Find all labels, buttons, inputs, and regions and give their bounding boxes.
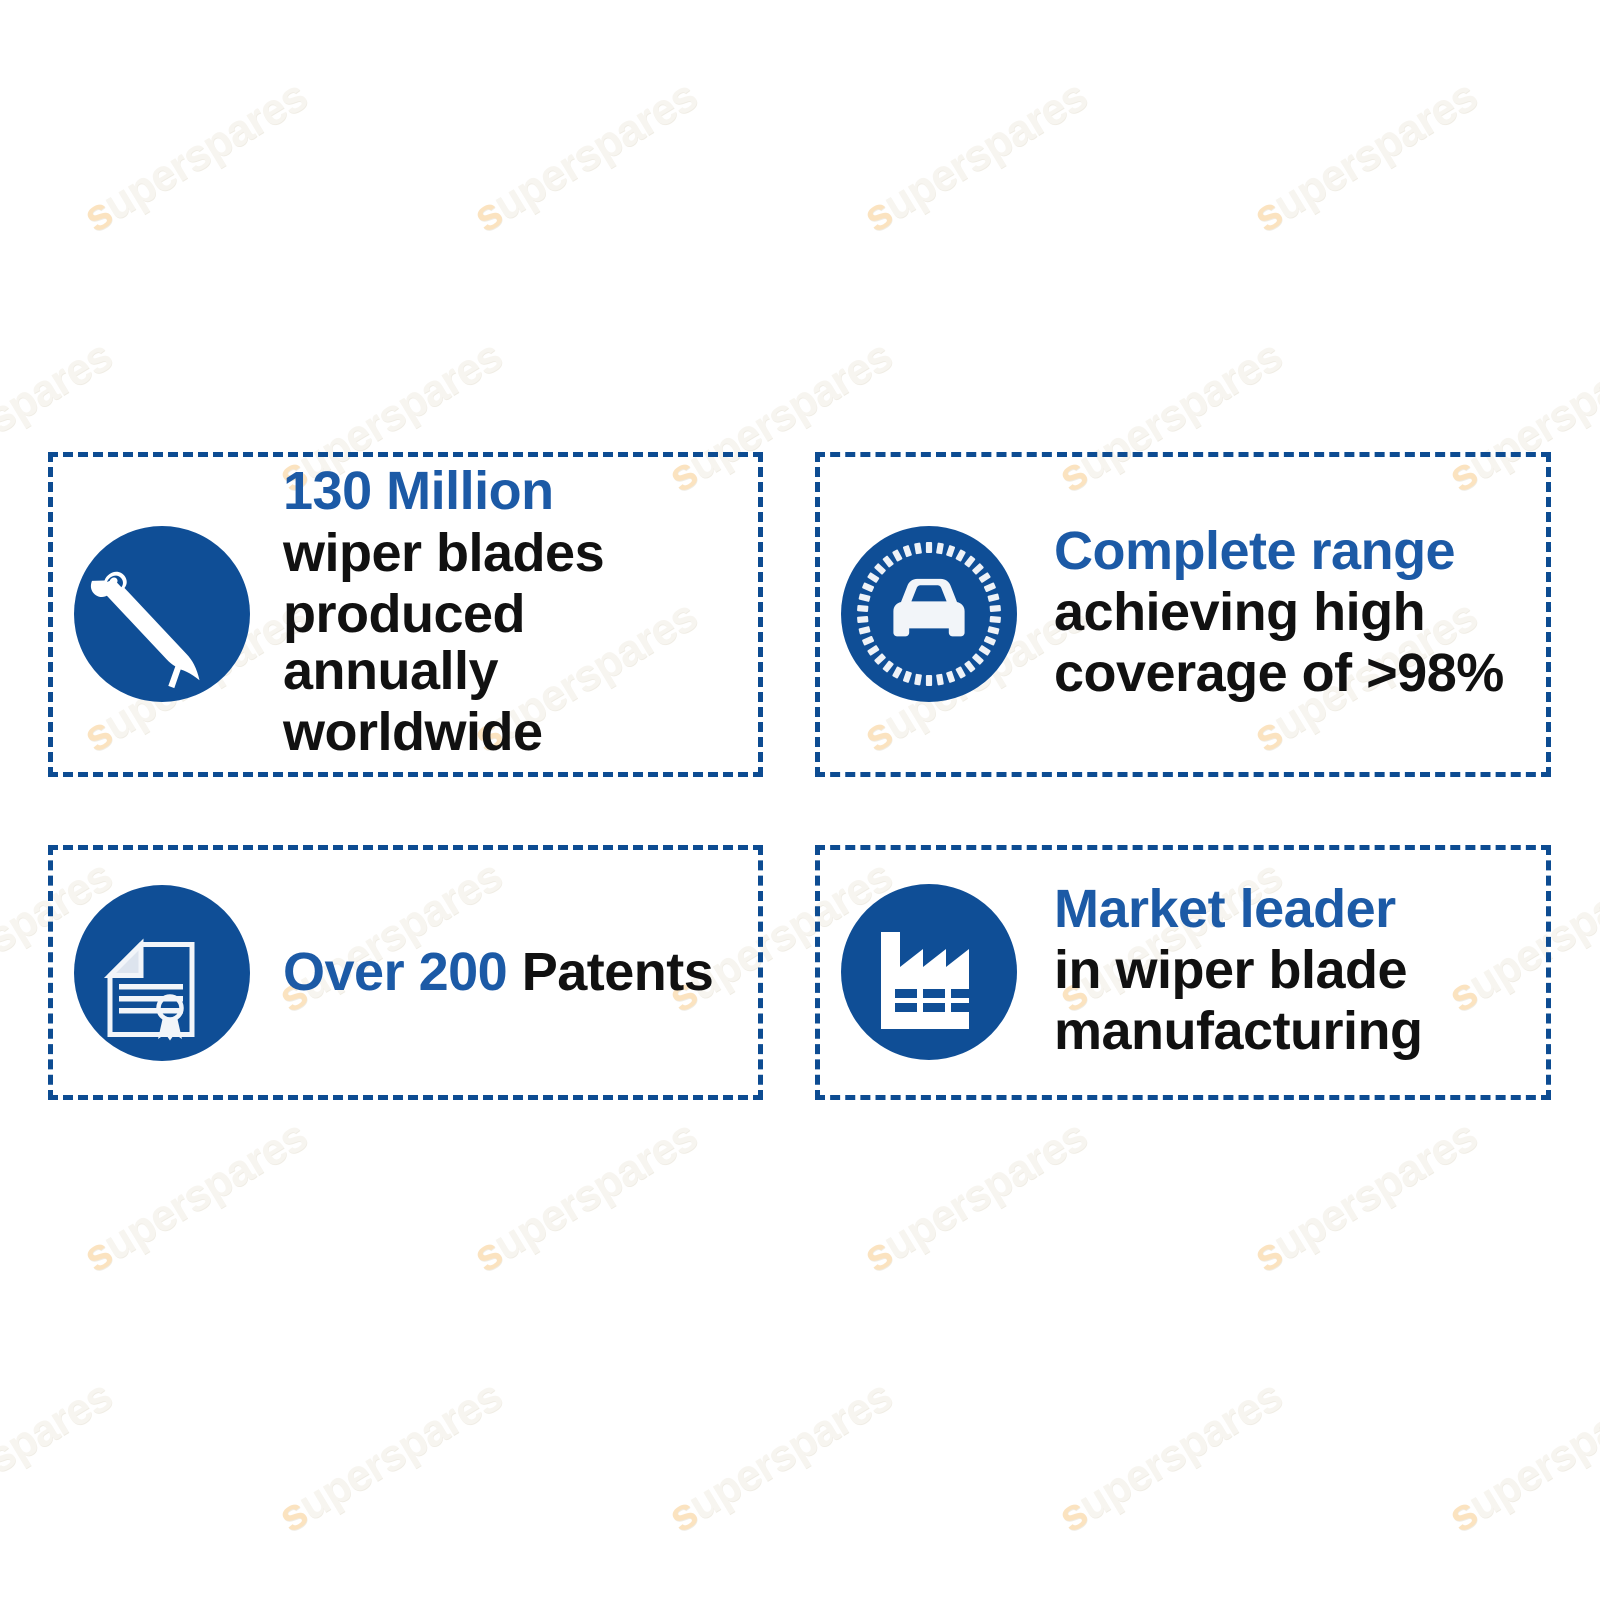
watermark-text: superspares [75,71,316,243]
watermark-logo-letter: s [855,1228,900,1282]
watermark-logo-letter: s [1440,1488,1485,1542]
watermark-word: uperspares [95,1111,315,1270]
watermark-word: uperspares [680,1371,900,1530]
card-body-line-2: coverage of >98% [1054,645,1532,702]
card-inline-text: Over 200 Patents [283,943,744,1002]
card-headline: Complete range [1054,523,1532,580]
card-body-line-1: wiper blades [283,525,744,582]
watermark-text: superspares [1050,1371,1291,1543]
infographic-page: supersparessupersparessupersparessupersp… [0,0,1600,1600]
watermark-logo-letter: s [270,1488,315,1542]
watermark-logo-letter: s [855,188,900,242]
stat-card-market-leader: Market leader in wiper blade manufacturi… [815,845,1551,1100]
card-text: Complete range achieving high coverage o… [1024,523,1532,707]
card-headline: Market leader [1054,881,1532,938]
card-trailing-text: Patents [507,942,713,1002]
card-text: Over 200 Patents [257,943,744,1002]
watermark-text: superspares [0,1371,121,1543]
card-body-line-2: produced annually [283,586,744,700]
card-body-line-1: in wiper blade [1054,942,1532,999]
watermark-logo-letter: s [1245,1228,1290,1282]
watermark-word: uperspares [1265,1111,1485,1270]
watermark-word: uperspares [95,71,315,230]
watermark-logo-letter: s [75,1228,120,1282]
card-text: Market leader in wiper blade manufacturi… [1024,881,1532,1065]
card-body-line-1: achieving high [1054,584,1532,641]
car-in-ring-icon [834,525,1024,703]
card-headline: Over 200 [283,942,507,1002]
watermark-text: superspares [465,1111,706,1283]
card-inner: 130 Million wiper blades produced annual… [53,463,758,765]
card-text: 130 Million wiper blades produced annual… [257,463,744,765]
watermark-text: superspares [75,1111,316,1283]
watermark-logo-letter: s [465,1228,510,1282]
watermark-text: superspares [270,1371,511,1543]
watermark-text: superspares [1440,1371,1600,1543]
watermark-logo-letter: s [75,188,120,242]
watermark-word: uperspares [875,1111,1095,1270]
factory-icon [834,883,1024,1061]
watermark-logo-letter: s [1245,188,1290,242]
watermark-word: uperspares [290,1371,510,1530]
card-inner: Over 200 Patents [53,884,758,1062]
watermark-word: uperspares [485,1111,705,1270]
stat-card-patents: Over 200 Patents [48,845,763,1100]
watermark-layer: supersparessupersparessupersparessupersp… [0,0,1600,1600]
watermark-logo-letter: s [1050,1488,1095,1542]
watermark-word: uperspares [1460,1371,1600,1530]
card-inner: Market leader in wiper blade manufacturi… [820,881,1546,1065]
watermark-text: superspares [660,1371,901,1543]
watermark-logo-letter: s [465,188,510,242]
wiper-blade-icon [67,525,257,703]
watermark-text: superspares [855,1111,1096,1283]
watermark-word: uperspares [1070,1371,1290,1530]
card-body-line-2: manufacturing [1054,1003,1532,1060]
watermark-text: superspares [855,71,1096,243]
stat-card-wiper-blades-produced: 130 Million wiper blades produced annual… [48,452,763,777]
watermark-text: superspares [465,71,706,243]
watermark-word: uperspares [875,71,1095,230]
stat-card-complete-range-coverage: Complete range achieving high coverage o… [815,452,1551,777]
watermark-word: uperspares [485,71,705,230]
card-body-line-3: worldwide [283,704,744,761]
card-headline: 130 Million [283,463,744,520]
watermark-text: superspares [1245,1111,1486,1283]
watermark-logo-letter: s [660,1488,705,1542]
card-inner: Complete range achieving high coverage o… [820,523,1546,707]
watermark-text: superspares [1245,71,1486,243]
watermark-word: uperspares [0,1371,120,1530]
watermark-word: uperspares [1265,71,1485,230]
patent-certificate-icon [67,884,257,1062]
